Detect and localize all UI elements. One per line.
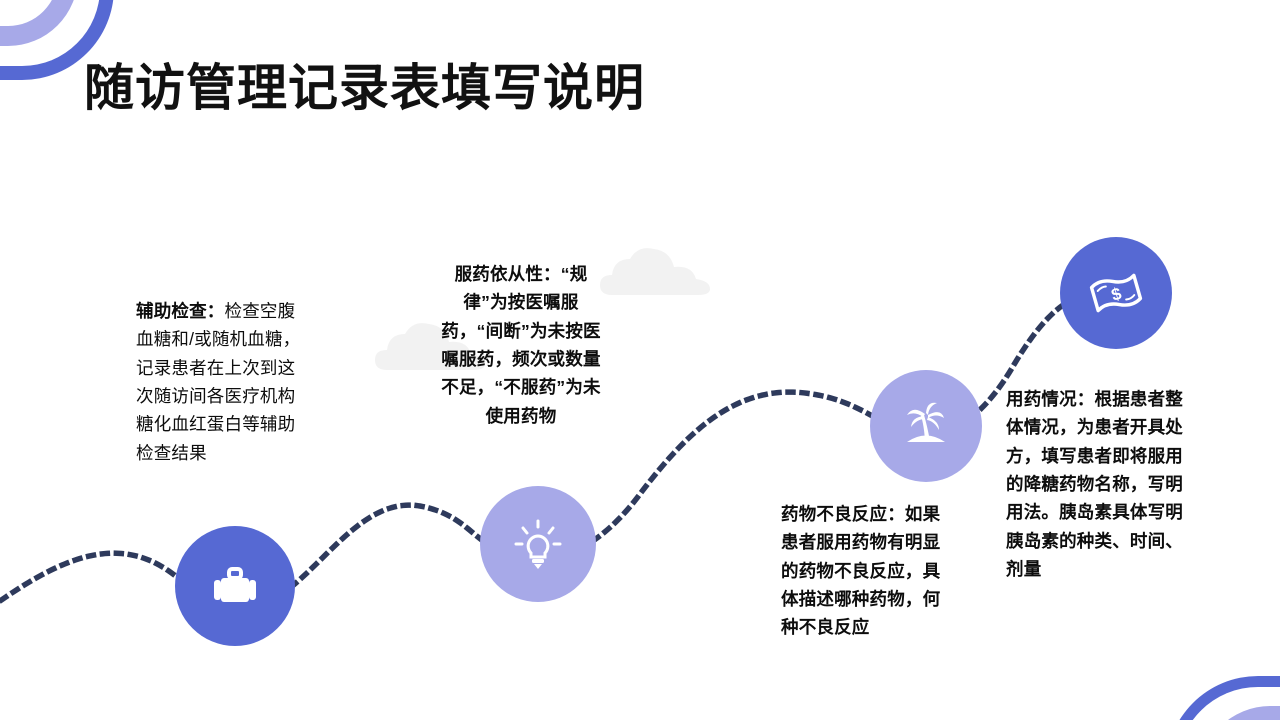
cloud-decor-top [600,245,710,295]
step-text-1: 辅助检查：检查空腹血糖和/或随机血糖，记录患者在上次到这次随访间各医疗机构糖化血… [136,297,312,467]
briefcase-icon [207,558,263,614]
svg-text:$: $ [1109,284,1124,305]
step-body-4: 用药情况：根据患者整体情况，为患者开具处方，填写患者即将服用的降糖药物名称，写明… [1006,389,1183,579]
slide-canvas: 随访管理记录表填写说明 [0,0,1280,720]
step-text-4: 用药情况：根据患者整体情况，为患者开具处方，填写患者即将服用的降糖药物名称，写明… [1006,385,1196,583]
step-node-4[interactable]: $ [1060,237,1172,349]
step-body-3: 药物不良反应：如果患者服用药物有明显的药物不良反应，具体描述哪种药物，何种不良反… [781,504,940,637]
palm-island-icon [897,397,955,455]
step-label-1: 辅助检查： [136,301,225,321]
step-node-2[interactable] [480,486,596,602]
step-body-2: 服药依从性：“规律”为按医嘱服药，“间断”为未按医嘱服药，频次或数量不足，“不服… [441,264,601,426]
step-node-1[interactable] [175,526,295,646]
banknote-dollar-icon: $ [1086,263,1146,323]
step-body-1: 检查空腹血糖和/或随机血糖，记录患者在上次到这次随访间各医疗机构糖化血红蛋白等辅… [136,301,300,463]
step-text-3: 药物不良反应：如果患者服用药物有明显的药物不良反应，具体描述哪种药物，何种不良反… [781,500,955,642]
step-node-3[interactable] [870,370,982,482]
slide-title: 随访管理记录表填写说明 [84,48,645,120]
lightbulb-icon [509,515,567,573]
step-text-2: 服药依从性：“规律”为按医嘱服药，“间断”为未按医嘱服药，频次或数量不足，“不服… [437,260,605,430]
